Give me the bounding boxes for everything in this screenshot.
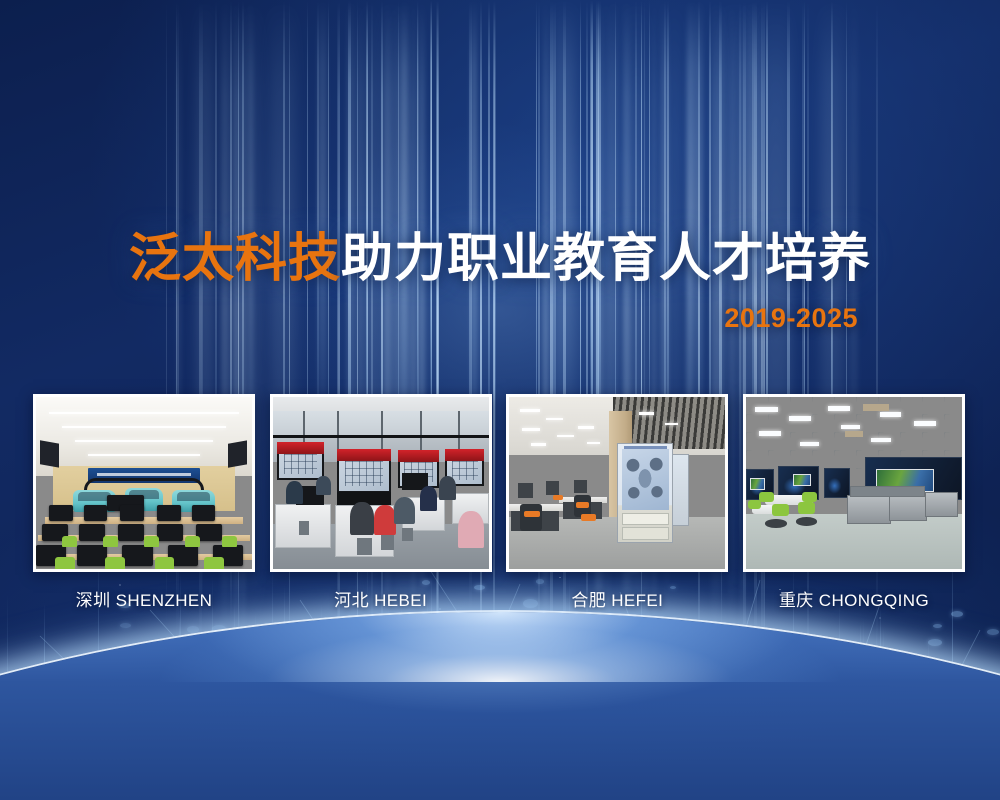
year-range: 2019-2025 — [724, 303, 858, 334]
photo-harmonyos-automotive-classroom — [36, 397, 252, 569]
headline-rest: 助力职业教育人才培养 — [341, 230, 871, 288]
promo-poster: 泛太科技助力职业教育人才培养 2019-2025 — [0, 0, 1000, 800]
gallery-photo-shenzhen[interactable] — [33, 394, 255, 572]
caption-chongqing: 重庆 CHONGQING — [743, 586, 965, 611]
gallery-photo-hebei[interactable] — [270, 394, 492, 572]
globe-surface — [0, 612, 1000, 800]
page-title: 泛太科技助力职业教育人才培养 — [0, 232, 1000, 287]
photo-captions: 深圳 SHENZHEN 河北 HEBEI 合肥 HEFEI 重庆 CHONGQI… — [33, 586, 965, 611]
globe-rim-light — [0, 610, 1000, 800]
brand-name: 泛太科技 — [129, 230, 341, 288]
gallery-photo-chongqing[interactable] — [743, 394, 965, 572]
caption-hebei: 河北 HEBEI — [270, 586, 492, 611]
caption-hefei: 合肥 HEFEI — [506, 586, 728, 611]
photo-electrical-training-benches — [273, 397, 489, 569]
photo-gallery — [33, 394, 965, 572]
mesh-lines-svg — [0, 540, 1000, 800]
network-mesh — [0, 540, 1000, 800]
photo-smart-manufacturing-lab — [746, 397, 962, 569]
photo-automotive-display-cabinet-lab — [509, 397, 725, 569]
center-glow — [180, 0, 820, 430]
globe-horizon-graphic — [0, 540, 1000, 800]
gallery-photo-hefei[interactable] — [506, 394, 728, 572]
caption-shenzhen: 深圳 SHENZHEN — [33, 586, 255, 611]
